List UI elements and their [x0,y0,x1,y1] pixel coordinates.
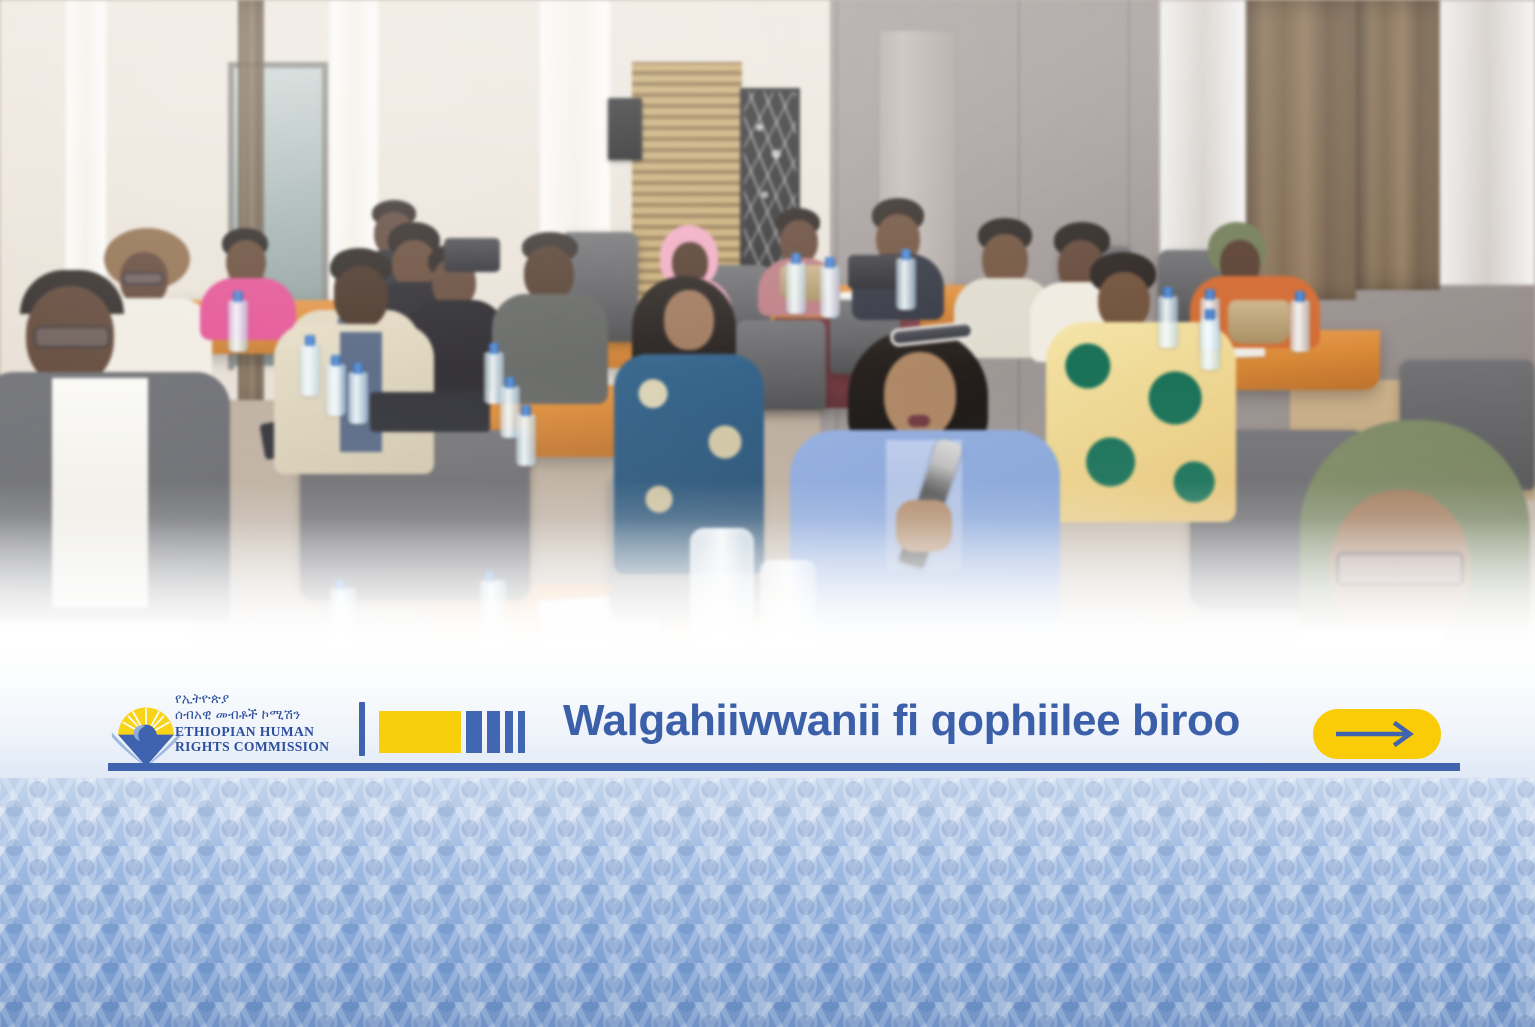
water-bottle [896,258,916,310]
pattern-motifs [0,778,1535,1027]
hand [896,500,952,552]
handbag [444,238,500,272]
org-english-line-1: ETHIOPIAN HUMAN [175,725,345,740]
banner-band: የኢትዮጵያ ሰብአዊ መብቶች ኮሚሽን ETHIOPIAN HUMAN RI… [0,648,1535,778]
water-bottle [300,344,320,396]
vertical-divider-icon [359,702,365,756]
deco-bar-blue [487,711,500,753]
ehrc-sun-chevron-logo-icon [107,692,185,768]
banner-stage: የኢትዮጵያ ሰብአዊ መብቶች ኮሚሽን ETHIOPIAN HUMAN RI… [0,0,1535,1027]
flag-bars-decoration-icon [379,711,525,753]
curtain [1356,0,1440,290]
water-bottle [1290,300,1310,352]
water-bottle [1200,318,1220,370]
water-bottle [326,364,346,416]
deco-bar-yellow [379,711,461,753]
tablet [370,392,490,432]
deco-bar-blue [505,711,513,753]
eyeglasses [1336,552,1464,586]
horizontal-rule-icon [108,763,1460,771]
org-amharic-line-2: ሰብአዊ መብቶች ኮሚሽን [175,708,345,723]
water-bottle [820,266,840,318]
handbag [1228,300,1290,344]
photo-scene [0,0,1535,668]
org-english-line-2: RIGHTS COMMISSION [175,740,345,755]
water-bottle [348,372,368,424]
water-bottle [516,414,536,466]
shirt [52,378,148,608]
mouth [908,415,930,427]
water-bottle [480,580,506,646]
pattern-dot-layer-2 [0,778,1535,1027]
page-title: Walgahiiwwanii fi qophiilee biroo [563,696,1240,746]
water-bottle [786,262,806,314]
org-amharic-line-1: የኢትዮጵያ [175,692,345,707]
glass-jug [690,528,754,648]
hero-photo [0,0,1535,668]
eyeglasses [34,326,110,348]
glass-jug [760,560,816,656]
water-bottle [1158,296,1178,348]
loudspeaker [608,98,642,160]
arrow-right-icon [1334,721,1420,747]
deco-bar-blue [518,711,525,753]
deco-bar-blue [466,711,482,753]
organization-name: የኢትዮጵያ ሰብአዊ መብቶች ኮሚሽን ETHIOPIAN HUMAN RI… [175,692,345,755]
water-bottle [228,300,248,352]
read-more-arrow-button[interactable] [1313,709,1441,759]
sheer-curtain [1440,0,1535,285]
ethiopian-geometric-pattern-icon [0,778,1535,1027]
water-bottle [330,588,356,650]
